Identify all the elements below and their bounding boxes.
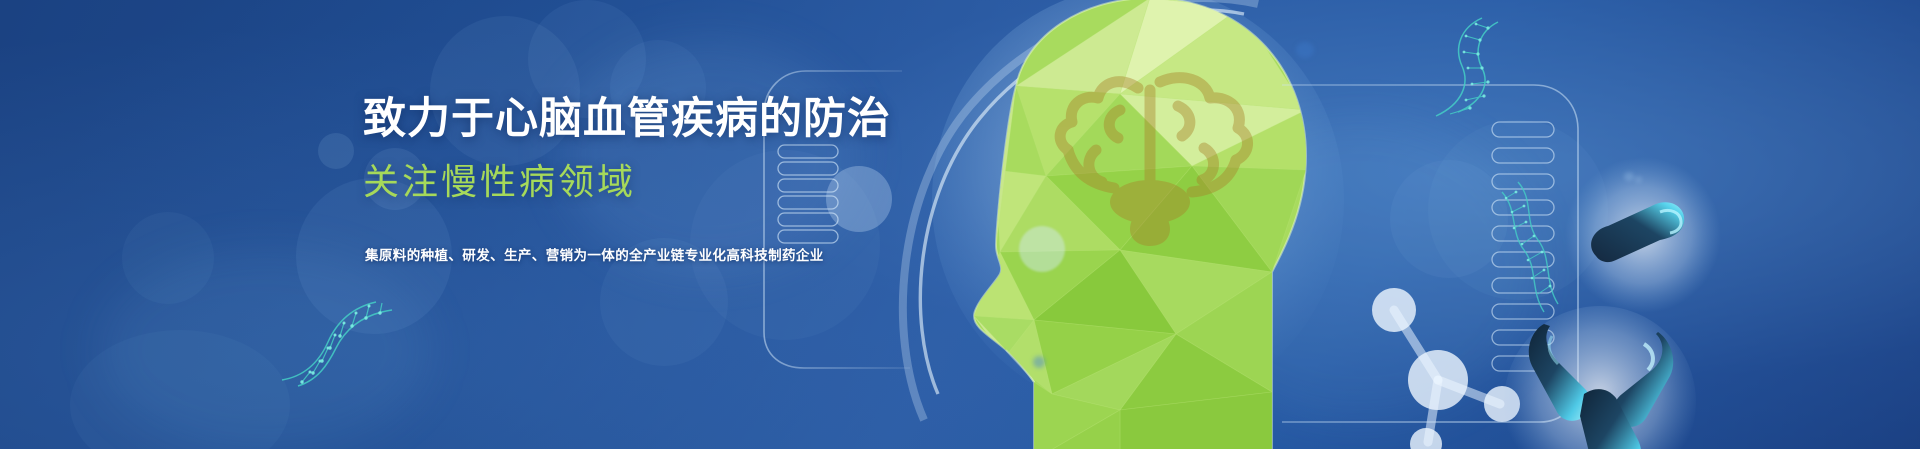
cell-chromosome-lower — [1488, 290, 1718, 449]
bokeh-circle-12 — [1390, 160, 1508, 278]
banner-copy: 致力于心脑血管疾病的防治 关注慢性病领域 集原料的种植、研发、生产、营销为一体的… — [363, 95, 1123, 264]
dna-helix-right — [1496, 178, 1616, 318]
hero-banner: 致力于心脑血管疾病的防治 关注慢性病领域 集原料的种植、研发、生产、营销为一体的… — [0, 0, 1920, 449]
bokeh-glow-right — [1180, 120, 1540, 420]
bokeh-circle-13 — [1428, 120, 1608, 300]
dna-helix-top — [1378, 18, 1508, 128]
molecule-cluster — [1350, 268, 1540, 448]
bokeh-circle-11 — [1128, 44, 1248, 164]
banner-tagline: 集原料的种植、研发、生产、营销为一体的全产业链专业化高科技制药企业 — [365, 244, 1123, 264]
speck-4 — [1635, 176, 1642, 183]
bokeh-glow-left — [100, 250, 430, 449]
speck-1 — [1296, 42, 1314, 58]
cell-bacterium-upper — [1548, 140, 1738, 330]
hud-panel-right — [1282, 84, 1622, 424]
banner-subheadline: 关注慢性病领域 — [363, 161, 1123, 202]
speck-2 — [1033, 356, 1045, 368]
dna-helix-left — [272, 268, 422, 388]
speck-3 — [1624, 172, 1634, 181]
bokeh-circle-14 — [70, 330, 290, 449]
bokeh-circle-4 — [122, 212, 214, 304]
bokeh-circle-3 — [318, 133, 354, 169]
banner-headline: 致力于心脑血管疾病的防治 — [363, 95, 1123, 143]
